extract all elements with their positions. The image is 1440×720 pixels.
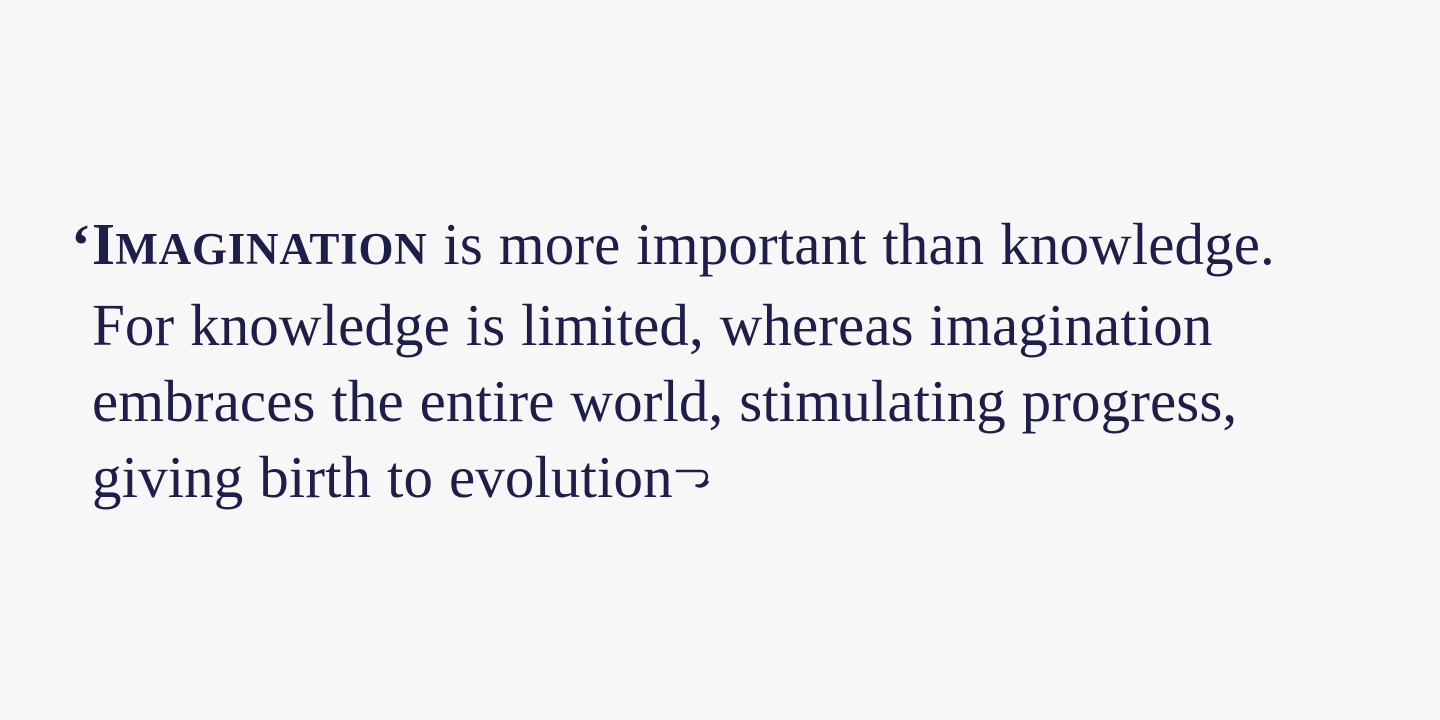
quote-text: IMAGINATION is more important than knowl… bbox=[92, 206, 1352, 515]
opening-quote-mark: ‘ bbox=[71, 207, 91, 283]
quote-lead-initial: I bbox=[92, 211, 115, 277]
pull-quote: ‘ IMAGINATION is more important than kno… bbox=[92, 206, 1352, 515]
swash-flourish-icon bbox=[676, 463, 710, 503]
quote-stage: ‘ IMAGINATION is more important than kno… bbox=[0, 0, 1440, 720]
quote-lead-smallcaps: MAGINATION bbox=[115, 224, 427, 274]
quote-lead-phrase: IMAGINATION bbox=[92, 211, 428, 277]
